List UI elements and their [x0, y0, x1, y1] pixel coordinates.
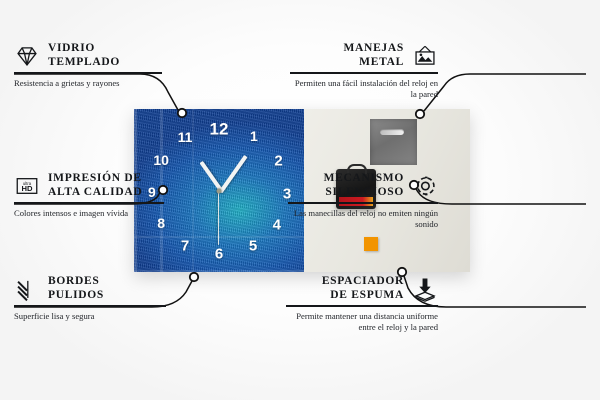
clock-second-hand	[218, 191, 219, 245]
callout-title-line1: MANEJAS	[344, 42, 405, 56]
callout-impresion-alta-calidad[interactable]: ultra HD IMPRESIÓN DE ALTA CALIDAD Color…	[14, 172, 164, 219]
callout-rule	[14, 305, 166, 307]
clock-numeral-12: 12	[210, 120, 229, 137]
clock-numeral-2: 2	[274, 154, 282, 169]
callout-title: ESPACIADOR DE ESPUMA	[322, 275, 404, 302]
hanger-slot	[380, 129, 404, 135]
callout-title-line2: DE ESPUMA	[322, 289, 404, 303]
clock-numeral-6: 6	[215, 247, 223, 262]
callout-rule	[288, 202, 438, 204]
callout-header: ESPACIADOR DE ESPUMA	[286, 275, 438, 302]
gear-icon	[412, 173, 438, 199]
callout-title: MANEJAS METAL	[344, 42, 405, 69]
wall-hanger-icon	[412, 43, 438, 69]
callout-header: ultra HD IMPRESIÓN DE ALTA CALIDAD	[14, 172, 164, 199]
clock-numeral-4: 4	[273, 217, 281, 232]
callout-rule	[14, 72, 162, 74]
metal-hanger-plate	[370, 119, 417, 165]
foam-spacer-icon	[412, 276, 438, 302]
wire-manejas	[424, 74, 586, 111]
callout-vidrio-templado[interactable]: VIDRIO TEMPLADO Resistencia a grietas y …	[14, 42, 162, 89]
clock-numeral-10: 10	[153, 153, 169, 167]
diamond-icon	[14, 43, 40, 69]
callout-title-line2: TEMPLADO	[48, 56, 120, 70]
callout-title-line2: ALTA CALIDAD	[48, 186, 142, 200]
callout-header: VIDRIO TEMPLADO	[14, 42, 162, 69]
callout-rule	[286, 305, 438, 307]
callout-header: MANEJAS METAL	[290, 42, 438, 69]
callout-rule	[290, 72, 438, 74]
callout-title-line1: MECANISMO	[324, 172, 404, 186]
callout-rule	[14, 202, 164, 204]
clock-hour-hand	[199, 161, 222, 191]
callout-title-line2: PULIDOS	[48, 289, 104, 303]
callout-description: Permite mantener una distancia uniforme …	[286, 311, 438, 334]
callout-title-line1: VIDRIO	[48, 42, 120, 56]
callout-mecanismo-silencioso[interactable]: MECANISMO SILENCIOSO Las manecillas del …	[288, 172, 438, 230]
callout-manejas-metal[interactable]: MANEJAS METAL Permiten una fácil instala…	[290, 42, 438, 100]
polished-edges-icon	[14, 276, 40, 302]
foam-spacer-square	[364, 237, 378, 251]
callout-header: BORDES PULIDOS	[14, 275, 166, 302]
callout-title-line2: SILENCIOSO	[324, 186, 404, 200]
callout-description: Las manecillas del reloj no emiten ningú…	[288, 208, 438, 231]
callout-title: VIDRIO TEMPLADO	[48, 42, 120, 69]
callout-title: IMPRESIÓN DE ALTA CALIDAD	[48, 172, 142, 199]
ultra-hd-big-text: HD	[21, 184, 33, 193]
callout-title-line1: IMPRESIÓN DE	[48, 172, 142, 186]
callout-espaciador-espuma[interactable]: ESPACIADOR DE ESPUMA Permite mantener un…	[286, 275, 438, 333]
clock-numeral-7: 7	[181, 238, 189, 253]
clock-numeral-5: 5	[249, 238, 257, 253]
callout-title: BORDES PULIDOS	[48, 275, 104, 302]
callout-title: MECANISMO SILENCIOSO	[324, 172, 404, 199]
infographic-canvas: 12 1 2 3 4 5 6 7 8 9 10 11	[0, 0, 600, 400]
clock-numeral-1: 1	[250, 129, 258, 143]
callout-description: Colores intensos e imagen vívida	[14, 208, 164, 219]
callout-title-line1: BORDES	[48, 275, 104, 289]
callout-description: Resistencia a grietas y rayones	[14, 78, 162, 89]
clock-numeral-11: 11	[178, 130, 193, 144]
callout-title-line2: METAL	[344, 56, 405, 70]
ultra-hd-icon: ultra HD	[14, 173, 40, 199]
callout-bordes-pulidos[interactable]: BORDES PULIDOS Superficie lisa y segura	[14, 275, 166, 322]
callout-title-line1: ESPACIADOR	[322, 275, 404, 289]
callout-description: Superficie lisa y segura	[14, 311, 166, 322]
clock-center-pin	[217, 189, 222, 194]
callout-description: Permiten una fácil instalación del reloj…	[290, 78, 438, 101]
clock-minute-hand	[219, 155, 248, 193]
callout-header: MECANISMO SILENCIOSO	[288, 172, 438, 199]
